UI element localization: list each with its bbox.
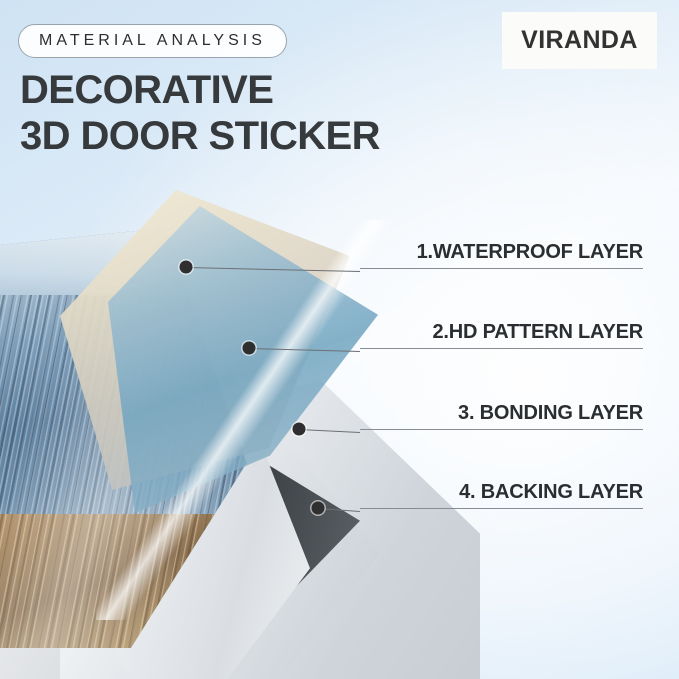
layer-label-2: 2.HD PATTERN LAYER [360,321,643,349]
callout-dot-backing-layer[interactable] [312,502,325,515]
layer-label-4: 4. BACKING LAYER [360,481,643,509]
brand-logo-text: VIRANDA [521,26,638,55]
page-title: DECORATIVE 3D DOOR STICKER [20,70,380,157]
poster-canvas: MATERIAL ANALYSIS DECORATIVE 3D DOOR STI… [0,0,679,679]
layer-label-4-text: 4. BACKING LAYER [360,481,643,508]
title-line-1: DECORATIVE [20,70,380,112]
layer-label-1: 1.WATERPROOF LAYER [360,241,643,269]
layer-label-1-rule [360,268,643,269]
layer-label-2-text: 2.HD PATTERN LAYER [360,321,643,348]
layer-label-1-text: 1.WATERPROOF LAYER [360,241,643,268]
callout-dot-hd-pattern-layer[interactable] [243,342,256,355]
brand-logo: VIRANDA [502,12,657,69]
layer-label-2-rule [360,348,643,349]
callout-dot-waterproof-layer[interactable] [180,261,193,274]
material-analysis-badge: MATERIAL ANALYSIS [18,24,287,58]
title-line-2: 3D DOOR STICKER [20,116,380,158]
badge-label: MATERIAL ANALYSIS [39,32,266,50]
callout-dot-bonding-layer[interactable] [293,423,306,436]
layer-label-3-rule [360,429,643,430]
layer-label-3: 3. BONDING LAYER [360,402,643,430]
layer-label-3-text: 3. BONDING LAYER [360,402,643,429]
layer-label-4-rule [360,508,643,509]
